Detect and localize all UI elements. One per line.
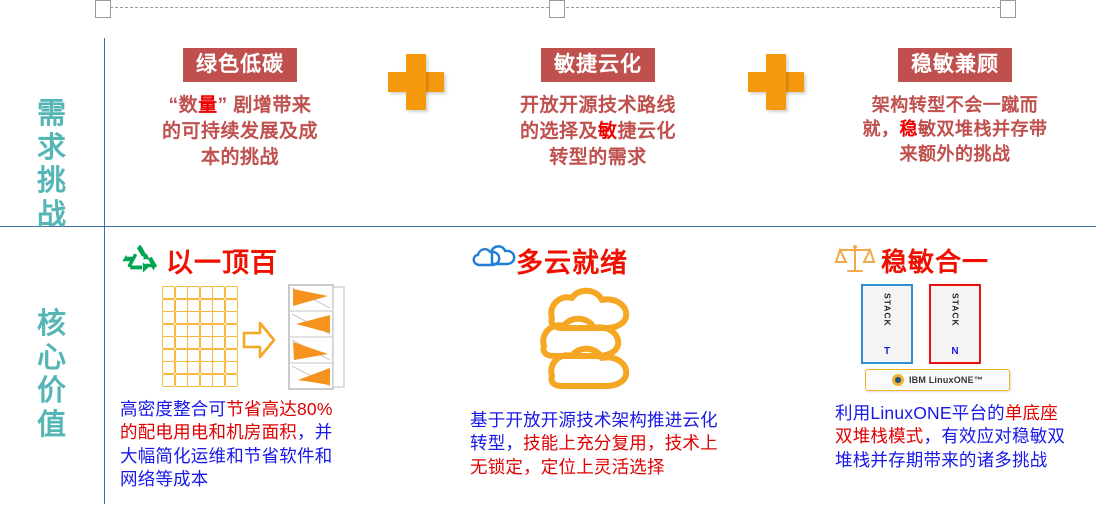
challenge-card-agile-cloud[interactable]: 敏捷云化 开放开源技术路线的选择及敏捷云化转型的需求	[518, 48, 678, 170]
rail-char: 核	[0, 308, 104, 342]
value-card-description: 高密度整合可节省高达80%的配电用电和机房面积，并大幅简化运维和节省软件和网络等…	[120, 398, 350, 492]
plus-separator-icon	[748, 54, 804, 110]
value-card-multicloud-ready[interactable]: 多云就绪 基于开放开源技术架构推进云化转型，技能上充分复用，技术上无锁定，定位上…	[470, 240, 735, 479]
dual-stack-linuxone-art: STACK T STACK N IBM LinuxONE™	[835, 284, 1070, 396]
recycle-icon	[120, 243, 160, 277]
rail-label-core-value: 核 心 价 值	[0, 308, 104, 443]
value-card-one-for-hundred[interactable]: 以一顶百	[120, 240, 350, 492]
multicloud-stack-art	[470, 284, 735, 399]
challenge-header-badge: 绿色低碳	[183, 48, 297, 82]
stack-box-n: STACK N	[929, 284, 981, 364]
column-divider-line	[104, 38, 105, 504]
highlight-char: 敏	[598, 121, 618, 142]
rail-char: 战	[0, 199, 104, 233]
cloud-icon	[470, 243, 510, 277]
challenge-body-text: “数量” 剧增带来的可持续发展及成本的挑战	[160, 93, 320, 170]
linuxone-platform-badge: IBM LinuxONE™	[865, 369, 1010, 391]
challenge-body-text: 开放开源技术路线的选择及敏捷云化转型的需求	[518, 93, 678, 170]
value-card-header: 多云就绪	[470, 240, 735, 280]
value-card-description: 基于开放开源技术架构推进云化转型，技能上充分复用，技术上无锁定，定位上灵活选择	[470, 409, 735, 479]
guide-handle-middle[interactable]	[549, 0, 565, 18]
rail-char: 价	[0, 375, 104, 409]
highlight-char: 量	[198, 95, 218, 116]
rail-char: 求	[0, 132, 104, 166]
rail-char: 挑	[0, 165, 104, 199]
value-card-header: 稳敏合一	[835, 240, 1070, 280]
challenge-body-text: 架构转型不会一蹴而就，稳敏双堆栈并存带来额外的挑战	[860, 93, 1050, 166]
stack-box-letter: N	[951, 346, 958, 357]
rail-label-needs-challenges: 需 求 挑 战	[0, 98, 104, 233]
value-card-title: 稳敏合一	[881, 242, 989, 279]
value-card-title: 多云就绪	[516, 241, 628, 280]
balance-scale-icon	[835, 243, 875, 277]
challenge-header-badge: 稳敏兼顾	[898, 48, 1012, 82]
stack-box-word: STACK	[949, 293, 960, 327]
slide-canvas: 需 求 挑 战 核 心 价 值 绿色低碳 “数量” 剧增带来的可持续发展及成本的…	[0, 0, 1096, 511]
dual-stack-diagram: STACK T STACK N IBM LinuxONE™	[861, 284, 1036, 391]
rail-char: 心	[0, 342, 104, 376]
challenge-card-stable-agile[interactable]: 稳敏兼顾 架构转型不会一蹴而就，稳敏双堆栈并存带来额外的挑战	[860, 48, 1050, 166]
stack-box-t: STACK T	[861, 284, 913, 364]
linuxone-badge-label: IBM LinuxONE™	[909, 375, 983, 385]
guide-handle-right[interactable]	[1000, 0, 1016, 18]
linuxone-logo-icon	[892, 374, 904, 386]
value-card-title: 以一顶百	[166, 241, 278, 280]
server-grid-icon	[162, 286, 236, 385]
slide-guide-ruler[interactable]	[0, 0, 1096, 16]
stacked-clouds-icon	[516, 284, 651, 401]
stack-box-word: STACK	[881, 293, 892, 327]
value-card-header: 以一顶百	[120, 240, 350, 280]
row-divider-line	[0, 226, 1096, 227]
stack-box-letter: T	[884, 346, 890, 357]
rail-char: 值	[0, 409, 104, 443]
challenge-header-badge: 敏捷云化	[541, 48, 655, 82]
value-card-description: 利用LinuxONE平台的单底座双堆栈模式，有效应对稳敏双堆栈并存期带来的诸多挑…	[835, 402, 1070, 472]
challenge-card-green-low-carbon[interactable]: 绿色低碳 “数量” 剧增带来的可持续发展及成本的挑战	[160, 48, 320, 170]
datacenter-consolidation-art	[120, 284, 350, 392]
rack-icon	[288, 284, 346, 395]
guide-handle-left[interactable]	[95, 0, 111, 18]
rail-char: 需	[0, 98, 104, 132]
arrow-right-icon	[242, 320, 276, 365]
value-card-stable-agile-unified[interactable]: 稳敏合一 STACK T STACK N IBM LinuxONE™	[835, 240, 1070, 472]
highlight-char: 稳	[900, 119, 919, 139]
plus-separator-icon	[388, 54, 444, 110]
